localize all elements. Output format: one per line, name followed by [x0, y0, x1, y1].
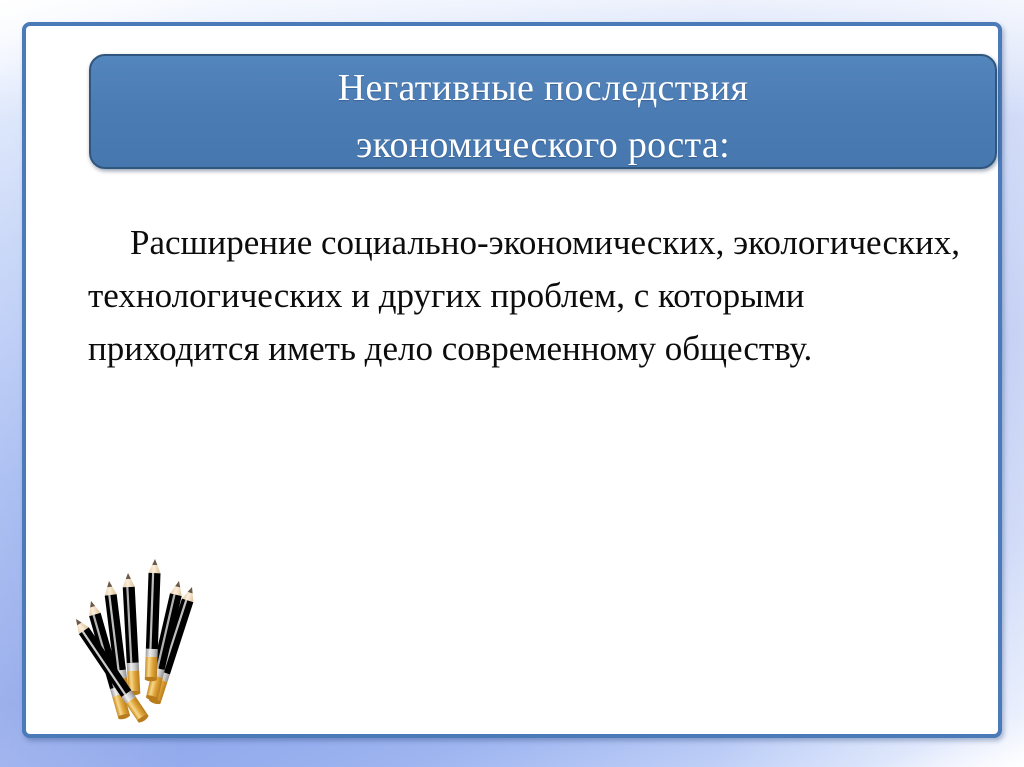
slide: Негативные последствия экономического ро… [0, 0, 1024, 767]
content-frame: Негативные последствия экономического ро… [22, 22, 1002, 738]
title-line-1: Негативные последствия [338, 60, 749, 117]
title-line-2: экономического роста: [356, 117, 730, 174]
colored-pencils-illustration [60, 541, 235, 741]
body-paragraph: Расширение социально-экономических, экол… [88, 216, 978, 375]
title-banner: Негативные последствия экономического ро… [89, 54, 997, 169]
